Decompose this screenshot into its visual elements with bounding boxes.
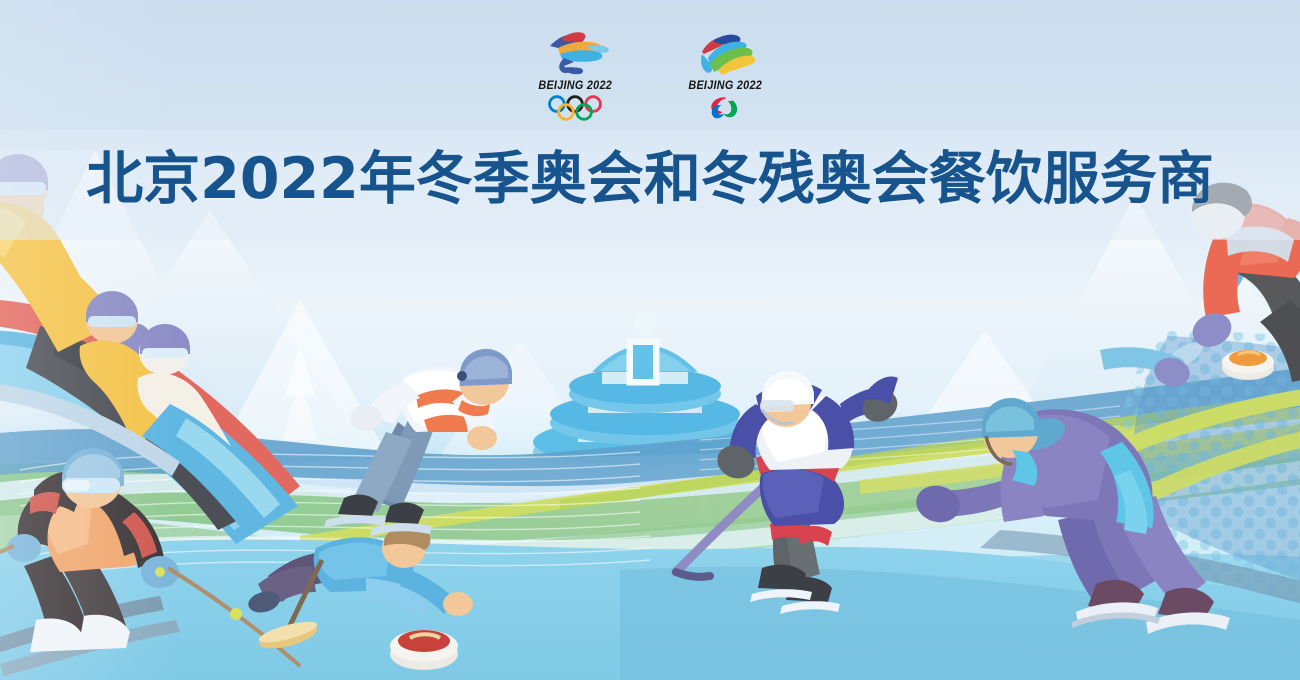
athlete-ice-hockey (676, 371, 903, 614)
athlete-speed-skater-white (324, 349, 512, 536)
olympic-banner: BEIJING 2022 BEIJING 20 (0, 0, 1300, 680)
paralympic-logo: BEIJING 2022 (670, 28, 780, 121)
curling-stone (1222, 350, 1274, 380)
speed-lines (20, 452, 650, 578)
lime-ribbon (300, 400, 1300, 548)
mountain-peak (890, 330, 1080, 470)
ice-surface-shade (980, 530, 1300, 620)
snow-swoosh (0, 440, 1300, 600)
lime-ribbon (560, 388, 1300, 510)
halftone-pattern (1113, 330, 1300, 640)
athlete-speed-skater-purple (912, 398, 1230, 634)
temple-of-heaven (533, 309, 757, 518)
speed-lines (700, 406, 1120, 470)
paralympic-wordmark: BEIJING 2022 (688, 80, 762, 92)
green-band (0, 415, 1300, 542)
olympic-rings (539, 95, 611, 121)
blue-band (0, 360, 1300, 495)
olympic-logo: BEIJING 2022 (520, 28, 630, 121)
beijing-2022-winter-olympics-emblem (538, 28, 612, 78)
mountain-peak (1120, 250, 1300, 445)
mountain-peak (220, 300, 385, 450)
page-title: 北京2022年冬季奥会和冬残奥会餐饮服务商 (0, 146, 1300, 212)
bobsleigh-crew (80, 291, 180, 444)
logo-row: BEIJING 2022 BEIJING 20 (0, 28, 1300, 140)
mountain-peak (430, 340, 610, 470)
mountain-peak (60, 210, 360, 440)
ice-surface-shade (620, 567, 1300, 680)
paralympic-agitos (696, 95, 754, 121)
ice-arc (0, 400, 1300, 508)
athlete-curler-sweeping (1100, 183, 1300, 390)
olympic-wordmark: BEIJING 2022 (538, 80, 612, 92)
lime-ribbon (860, 416, 1300, 494)
snow-spire (285, 345, 315, 395)
bobsleigh-crew (138, 324, 233, 470)
athlete-curler-delivering (246, 525, 473, 670)
curling-stone (390, 630, 458, 670)
mountain-peak (1010, 195, 1265, 430)
ice-arc (0, 452, 1300, 578)
deep-blue-panel (1133, 336, 1300, 600)
athlete-alpine-skier (0, 448, 300, 676)
beijing-2022-winter-paralympics-emblem (688, 28, 762, 78)
green-band (0, 450, 1300, 579)
athlete-bobsleigh (0, 154, 300, 544)
ice-surface (0, 540, 1300, 680)
snow-spire (282, 380, 318, 440)
